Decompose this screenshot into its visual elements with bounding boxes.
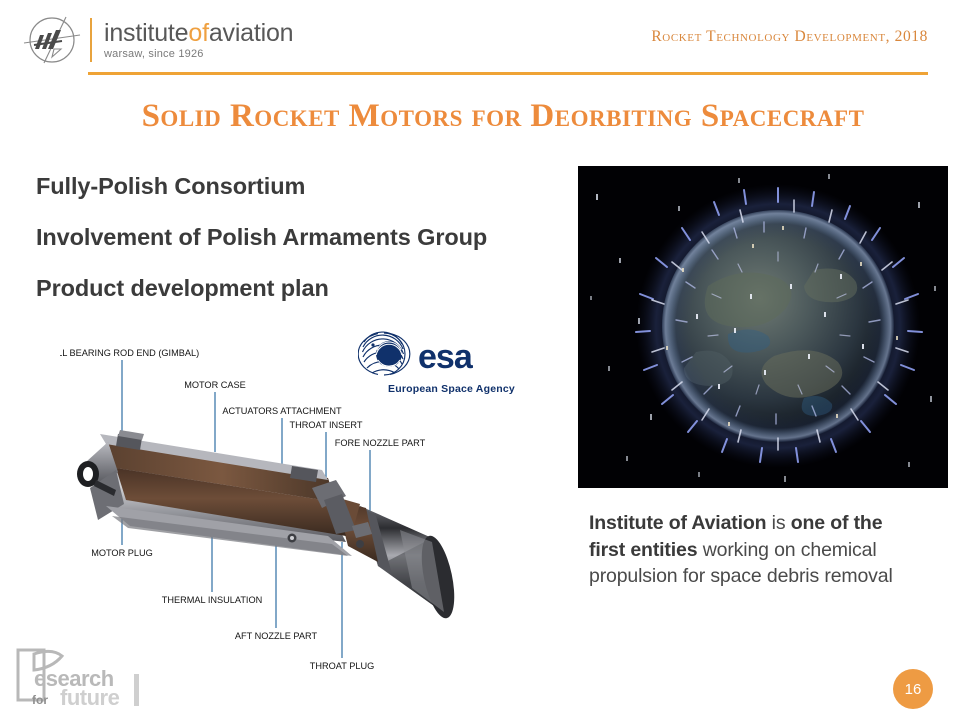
logo-title-part2: aviation xyxy=(209,19,294,47)
page-number-badge: 16 xyxy=(893,669,933,709)
logo-title: instituteofaviation xyxy=(104,20,293,46)
list-item: Fully-Polish Consortium xyxy=(36,172,576,200)
diagram-label: THROAT PLUG xyxy=(310,661,375,671)
list-item: Involvement of Polish Armaments Group xyxy=(36,223,576,251)
esa-logo-svg: esa European Space Agency xyxy=(358,330,518,402)
caption-bold-1: Institute of Aviation xyxy=(589,512,766,534)
logo-title-part1: institute xyxy=(104,19,188,47)
header-rule xyxy=(88,72,928,75)
diagram-label: AFT NOZZLE PART xyxy=(235,631,318,641)
motor-body xyxy=(77,430,460,621)
logo-wordmark: instituteofaviation warsaw, since 1926 xyxy=(104,20,293,61)
earth-orbital-space-debris-photo xyxy=(578,166,948,488)
diagram-label: BALL BEARING ROD END (GIMBAL) xyxy=(60,348,199,358)
logo-tagline: warsaw, since 1926 xyxy=(104,47,293,61)
research-for-future-logo-svg: esearch for future xyxy=(12,646,148,712)
esa-logo: esa European Space Agency xyxy=(358,330,518,402)
space-debris-image xyxy=(578,166,948,488)
photo-caption: Institute of Aviation is one of the firs… xyxy=(589,510,919,590)
diagram-label: MOTOR CASE xyxy=(184,380,246,390)
rff-small: for xyxy=(32,693,48,707)
slide-root: instituteofaviation warsaw, since 1926 R… xyxy=(0,0,960,720)
list-item: Product development plan xyxy=(36,274,576,302)
logo-title-accent: of xyxy=(188,19,208,47)
research-for-future-logo: esearch for future xyxy=(12,646,148,712)
page-title: Solid Rocket Motors for Deorbiting Space… xyxy=(88,96,918,136)
caption-plain-1: is xyxy=(766,512,790,534)
diagram-label: MOTOR PLUG xyxy=(91,548,153,558)
diagram-label: THROAT INSERT xyxy=(290,420,363,430)
institute-logo: instituteofaviation warsaw, since 1926 xyxy=(22,12,322,68)
event-header: Rocket Technology Development, 2018 xyxy=(651,28,928,46)
logo-divider xyxy=(90,18,92,62)
diagram-label: THERMAL INSULATION xyxy=(162,595,263,605)
institute-of-aviation-emblem-icon xyxy=(22,13,84,67)
bullet-list: Fully-Polish Consortium Involvement of P… xyxy=(36,172,576,325)
esa-globe-icon xyxy=(358,332,410,376)
diagram-label: ACTUATORS ATTACHMENT xyxy=(222,406,342,416)
esa-wordmark: esa xyxy=(418,338,474,376)
esa-subtitle: European Space Agency xyxy=(388,383,515,395)
diagram-label: FORE NOZZLE PART xyxy=(335,438,426,448)
rff-line2: future xyxy=(60,685,120,710)
